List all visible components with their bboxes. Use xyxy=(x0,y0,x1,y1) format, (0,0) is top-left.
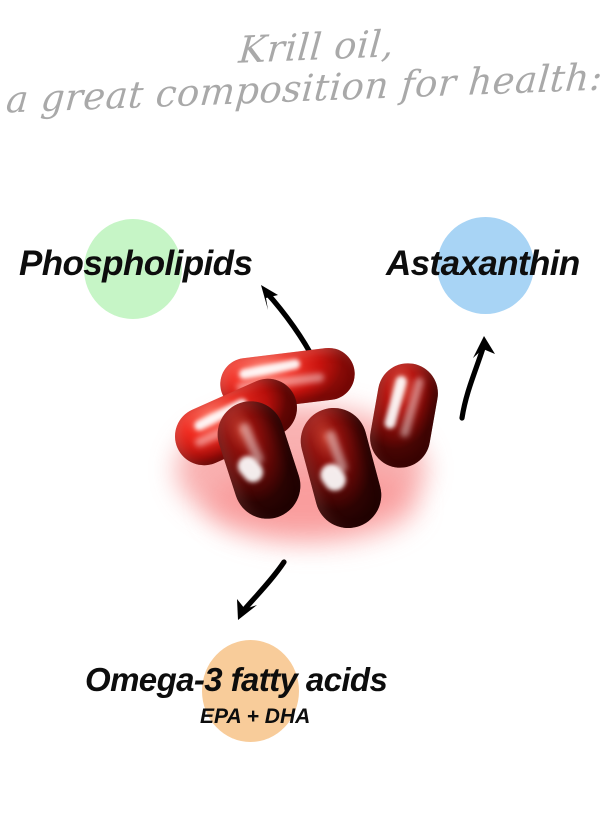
krill-oil-capsules-image xyxy=(168,345,458,550)
curved-arrow-up-icon xyxy=(450,330,510,425)
nutrient-label-phospholipids: Phospholipids xyxy=(19,244,252,284)
infographic-poster: Krill oil, a great composition for healt… xyxy=(0,0,609,822)
nutrient-label-omega-3: Omega-3 fatty acids xyxy=(85,661,387,699)
capsule-right xyxy=(365,359,442,473)
page-title: Krill oil, a great composition for healt… xyxy=(0,28,609,108)
nutrient-label-astaxanthin: Astaxanthin xyxy=(386,244,580,284)
curved-arrow-down-left-icon xyxy=(222,552,302,632)
nutrient-sublabel-epa-dha: EPA + DHA xyxy=(200,705,310,729)
